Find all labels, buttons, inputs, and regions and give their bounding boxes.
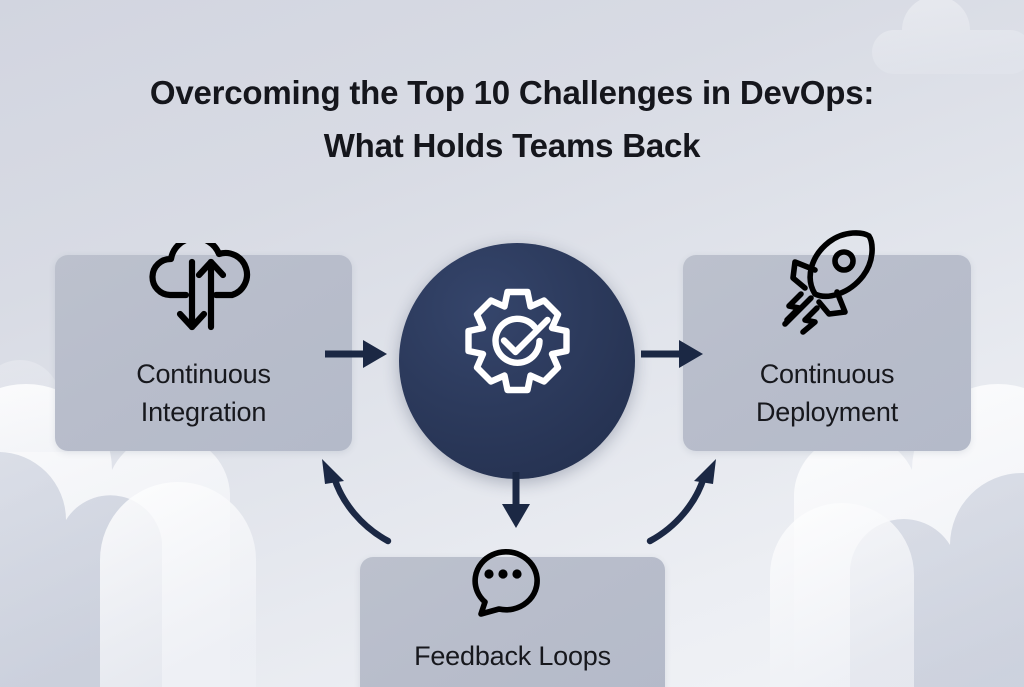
- ci-label-line-2: Integration: [55, 393, 352, 431]
- devops-hub-circle[interactable]: [399, 243, 635, 479]
- cd-label-line-2: Deployment: [683, 393, 971, 431]
- fb-label-line-1: Feedback Loops: [360, 637, 665, 675]
- title-line-1: Overcoming the Top 10 Challenges in DevO…: [0, 66, 1024, 119]
- node-label-continuous-integration: Continuous Integration: [55, 355, 352, 432]
- arrow-feedback-to-cd: [618, 455, 728, 567]
- page-title: Overcoming the Top 10 Challenges in DevO…: [0, 66, 1024, 173]
- node-continuous-deployment[interactable]: Continuous Deployment: [683, 255, 971, 451]
- infographic-canvas: Overcoming the Top 10 Challenges in DevO…: [0, 0, 1024, 687]
- arrow-hub-to-feedback: [486, 472, 546, 534]
- cd-label-line-1: Continuous: [683, 355, 971, 393]
- ci-label-line-1: Continuous: [55, 355, 352, 393]
- node-label-feedback-loops: Feedback Loops: [360, 637, 665, 675]
- title-line-2: What Holds Teams Back: [0, 119, 1024, 172]
- node-feedback-loops[interactable]: Feedback Loops: [360, 557, 665, 687]
- node-label-continuous-deployment: Continuous Deployment: [683, 355, 971, 432]
- cloud-shape-top-right: [872, 0, 1024, 74]
- node-continuous-integration[interactable]: Continuous Integration: [55, 255, 352, 451]
- arrow-feedback-to-ci: [310, 455, 420, 567]
